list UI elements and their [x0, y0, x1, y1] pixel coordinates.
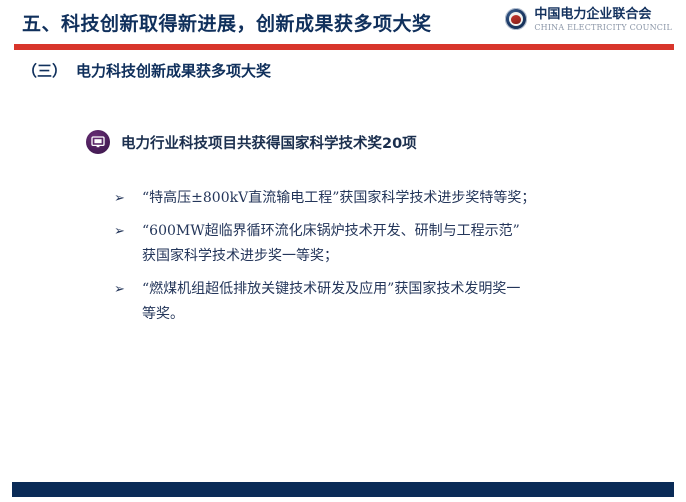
section-number: （三） — [22, 62, 67, 80]
section-heading: （三）电力科技创新成果获多项大奖 — [22, 60, 271, 81]
arrow-bullet-icon: ➢ — [114, 186, 142, 211]
list-item-text: “燃煤机组超低排放关键技术研发及应用”获国家技术发明奖一 等奖。 — [142, 277, 644, 327]
award-bullet-list: ➢ “特高压±800kV直流输电工程”获国家科学技术进步奖特等奖； ➢ “600… — [114, 186, 644, 335]
list-item-line: 等奖。 — [142, 302, 644, 327]
header-divider-rule — [14, 44, 674, 50]
list-item-line: “600MW超临界循环流化床锅炉技术开发、研制与工程示范” — [142, 219, 644, 244]
arrow-bullet-icon: ➢ — [114, 277, 142, 302]
monitor-badge-icon — [86, 130, 110, 154]
slide: 五、科技创新取得新进展，创新成果获多项大奖 中国电力企业联合会 CHINA EL… — [0, 0, 686, 502]
arrow-bullet-icon: ➢ — [114, 219, 142, 244]
list-item-text: “600MW超临界循环流化床锅炉技术开发、研制与工程示范” 获国家科学技术进步奖… — [142, 219, 644, 269]
organization-logo: 中国电力企业联合会 CHINA ELECTRICITY COUNCIL — [505, 7, 672, 43]
list-item: ➢ “燃煤机组超低排放关键技术研发及应用”获国家技术发明奖一 等奖。 — [114, 277, 644, 327]
list-item-text: “特高压±800kV直流输电工程”获国家科学技术进步奖特等奖； — [142, 186, 644, 211]
section-title: 电力科技创新成果获多项大奖 — [76, 62, 271, 80]
list-item-line: 获国家科学技术进步奖一等奖； — [142, 244, 644, 269]
list-item-line: “特高压±800kV直流输电工程”获国家科学技术进步奖特等奖； — [142, 186, 644, 211]
logo-name-en: CHINA ELECTRICITY COUNCIL — [534, 22, 672, 34]
logo-name-cn: 中国电力企业联合会 — [534, 7, 672, 22]
list-item-line: “燃煤机组超低排放关键技术研发及应用”获国家技术发明奖一 — [142, 277, 644, 302]
page-title: 五、科技创新取得新进展，创新成果获多项大奖 — [22, 9, 432, 36]
logo-text-block: 中国电力企业联合会 CHINA ELECTRICITY COUNCIL — [534, 7, 672, 34]
footer-bar — [12, 482, 674, 497]
lead-statement: 电力行业科技项目共获得国家科学技术奖20项 — [86, 130, 417, 154]
list-item: ➢ “特高压±800kV直流输电工程”获国家科学技术进步奖特等奖； — [114, 186, 644, 211]
list-item: ➢ “600MW超临界循环流化床锅炉技术开发、研制与工程示范” 获国家科学技术进… — [114, 219, 644, 269]
lead-statement-text: 电力行业科技项目共获得国家科学技术奖20项 — [121, 132, 417, 153]
cec-emblem-icon — [505, 8, 527, 30]
